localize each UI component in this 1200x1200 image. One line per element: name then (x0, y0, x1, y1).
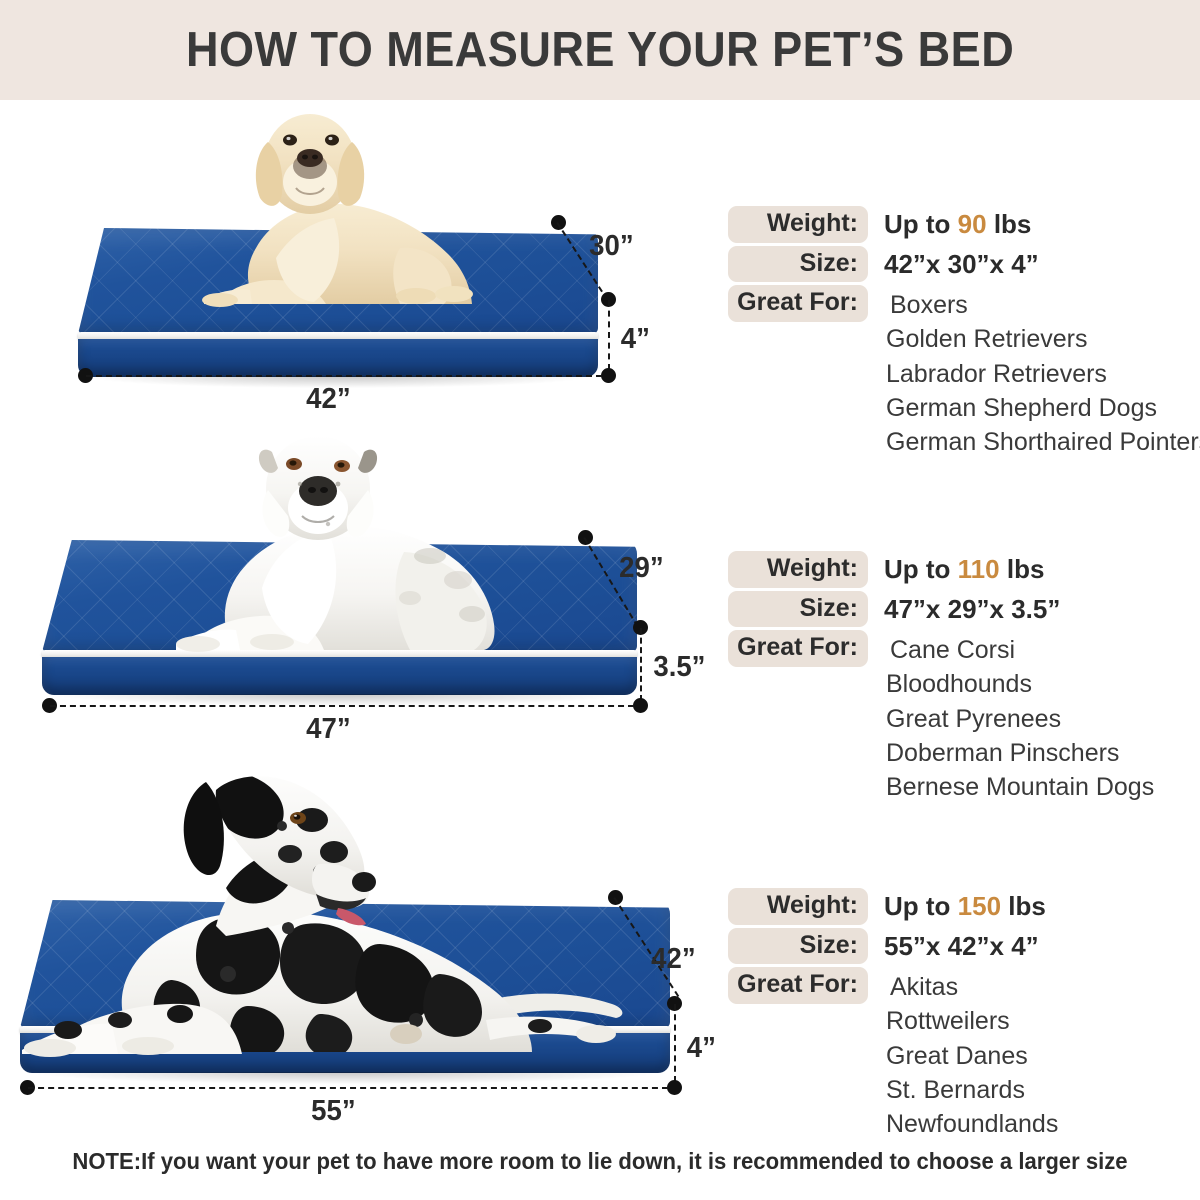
list-item: Great Pyrenees (886, 702, 1154, 736)
size-value: 42”x 30”x 4” (868, 246, 1039, 281)
weight-row: Weight: Up to 110 lbs (728, 551, 1188, 588)
page-title: HOW TO MEASURE YOUR PET’S BED (186, 22, 1014, 78)
header-band: HOW TO MEASURE YOUR PET’S BED (0, 0, 1200, 100)
footer-note: NOTE:If you want your pet to have more r… (24, 1148, 1176, 1175)
size-value: 47”x 29”x 3.5” (868, 591, 1060, 626)
weight-number: 90 (958, 209, 987, 239)
list-item: Rottweilers (886, 1004, 1058, 1038)
dog-white-central-asian-shepherd (172, 428, 542, 653)
dog-yellow-labrador (186, 108, 516, 308)
dim-label-depth: 29” (619, 552, 663, 585)
size-row: Size: 42”x 30”x 4” (728, 246, 1188, 283)
list-item: St. Bernards (886, 1073, 1058, 1107)
dim-dot-height-bottom (667, 1080, 682, 1095)
weight-prefix: Up to (884, 209, 950, 239)
size-row: Size: 47”x 29”x 3.5” (728, 591, 1188, 628)
weight-unit: lbs (1007, 554, 1045, 584)
great-for-row: Great For: Akitas Rottweilers Great Dane… (728, 967, 1188, 1141)
size-label: Size: (728, 591, 868, 628)
bed-side-panel (42, 657, 637, 695)
bed-section-small: 30” 4” 42” Weight: Up to 90 lbs Size: 42… (0, 100, 1200, 420)
weight-prefix: Up to (884, 891, 950, 921)
dim-label-height: 4” (621, 323, 650, 356)
weight-number: 150 (958, 891, 1001, 921)
bed-section-medium: 29” 3.5” 47” Weight: Up to 110 lbs Size:… (0, 420, 1200, 760)
weight-prefix: Up to (884, 554, 950, 584)
dim-label-height: 4” (687, 1032, 716, 1065)
size-row: Size: 55”x 42”x 4” (728, 928, 1188, 965)
bed-section-large: 42” 4” 55” Weight: Up to 150 lbs Size: 5… (0, 760, 1200, 1140)
size-label: Size: (728, 928, 868, 965)
dim-label-width: 47” (306, 713, 350, 746)
breed-list: Akitas Rottweilers Great Danes St. Berna… (868, 967, 1058, 1141)
weight-value: Up to 110 lbs (868, 551, 1044, 586)
weight-unit: lbs (1008, 891, 1046, 921)
dim-dot-height-bottom (601, 368, 616, 383)
dog-harlequin-great-dane (20, 768, 650, 1063)
bed-side-panel (78, 339, 598, 377)
dim-line-width (86, 375, 602, 377)
dim-dot-height-bottom (633, 698, 648, 713)
weight-row: Weight: Up to 90 lbs (728, 206, 1188, 243)
list-item: Labrador Retrievers (886, 357, 1200, 391)
weight-number: 110 (958, 554, 1000, 584)
size-label: Size: (728, 246, 868, 283)
dim-line-height (608, 300, 610, 370)
list-item: Newfoundlands (886, 1107, 1058, 1141)
list-item: Boxers (886, 288, 1200, 322)
weight-label: Weight: (728, 206, 868, 243)
size-value: 55”x 42”x 4” (868, 928, 1039, 963)
list-item: Akitas (886, 970, 1058, 1004)
weight-label: Weight: (728, 551, 868, 588)
great-for-label: Great For: (728, 630, 868, 667)
dim-line-width (28, 1087, 668, 1089)
great-for-label: Great For: (728, 967, 868, 1004)
weight-value: Up to 90 lbs (868, 206, 1031, 241)
weight-row: Weight: Up to 150 lbs (728, 888, 1188, 925)
dim-label-height: 3.5” (653, 651, 705, 684)
dim-label-width: 42” (306, 383, 350, 416)
dim-line-height (674, 1004, 676, 1082)
list-item: Cane Corsi (886, 633, 1154, 667)
dim-label-depth: 30” (589, 230, 633, 263)
dim-line-height (640, 628, 642, 701)
dim-line-width (50, 705, 634, 707)
great-for-label: Great For: (728, 285, 868, 322)
list-item: Great Danes (886, 1039, 1058, 1073)
weight-value: Up to 150 lbs (868, 888, 1046, 923)
dim-label-width: 55” (311, 1095, 355, 1128)
list-item: Golden Retrievers (886, 322, 1200, 356)
info-panel-large: Weight: Up to 150 lbs Size: 55”x 42”x 4”… (728, 888, 1188, 1144)
weight-unit: lbs (994, 209, 1032, 239)
dim-label-depth: 42” (651, 943, 695, 976)
bed-drop-shadow (33, 1072, 657, 1084)
weight-label: Weight: (728, 888, 868, 925)
list-item: Bloodhounds (886, 667, 1154, 701)
